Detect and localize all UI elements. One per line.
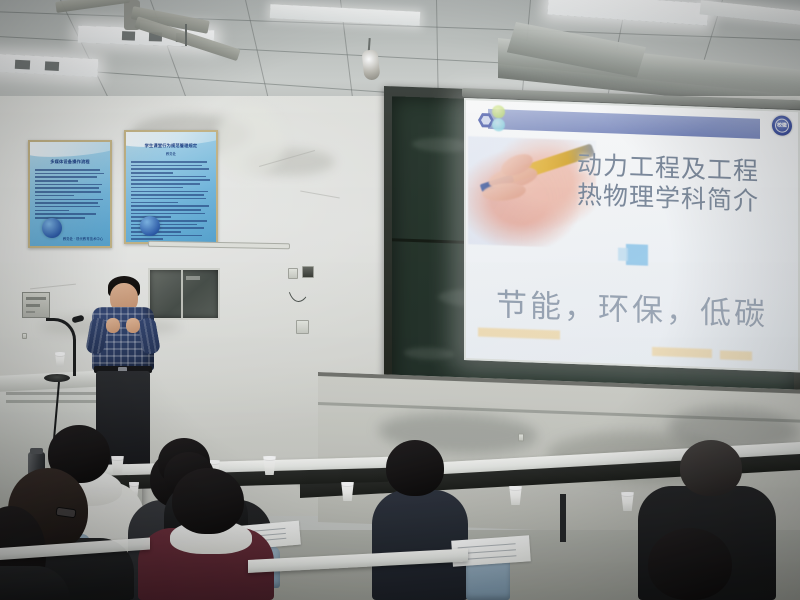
seal-label: 校徽 [772, 115, 792, 136]
leaf-circle-icon [492, 118, 505, 131]
hanging-light-bulb [361, 49, 380, 81]
desk-leg [560, 494, 566, 542]
attendee-navy-head [386, 440, 444, 496]
poster-globe-graphic [42, 218, 62, 238]
poster-subtitle: 教务处 [126, 151, 216, 156]
gooseneck-microphone[interactable] [46, 318, 76, 376]
lecture-hall-photo: 多媒体设备操作流程 教务处 · 现代教育技术中心 学生课堂行为规范管理规定 教务… [0, 0, 800, 600]
projector-screen: 校徽 动力工程及工程 热物理学科简介 节能，环保，低碳 [464, 98, 800, 372]
poster-swoosh [28, 140, 112, 159]
wall-outlet[interactable] [22, 333, 27, 339]
hanging-wire [185, 24, 187, 46]
wall-window-panel [148, 268, 220, 320]
slide-footer-highlight [652, 347, 712, 358]
attendee-right-back-head [680, 440, 742, 496]
attendee-front-maroon-head [172, 468, 244, 534]
wall-outlet[interactable] [296, 320, 309, 334]
poster-footer: 教务处 · 现代教育技术中心 [56, 236, 110, 241]
wall-outlet-lower[interactable] [518, 433, 524, 441]
slide-slogan: 节能，环保，低碳 [466, 278, 798, 335]
attendee-right-foreground-head [648, 528, 732, 600]
poster-globe-graphic [140, 216, 160, 236]
wall-poster-right: 学生课堂行为规范管理规定 教务处 [124, 130, 218, 244]
presenter-hand-left [106, 318, 120, 333]
wall-electrical-box [22, 292, 50, 318]
slide-accent-square [626, 244, 648, 266]
slide-footer-highlight [478, 328, 560, 340]
slide-footer-highlight [720, 350, 752, 360]
presenter-hand-right [126, 318, 140, 333]
university-seal-icon: 校徽 [772, 115, 792, 136]
poster-title: 多媒体设备操作流程 [30, 159, 110, 165]
poster-body-text [35, 169, 106, 221]
leaf-circle-icon [492, 105, 505, 118]
presentation-slide: 校徽 动力工程及工程 热物理学科简介 节能，环保，低碳 [466, 100, 798, 370]
wall-poster-left: 多媒体设备操作流程 教务处 · 现代教育技术中心 [28, 140, 112, 248]
poster-title: 学生课堂行为规范管理规定 [126, 143, 216, 149]
slide-accent-bar [488, 109, 760, 139]
